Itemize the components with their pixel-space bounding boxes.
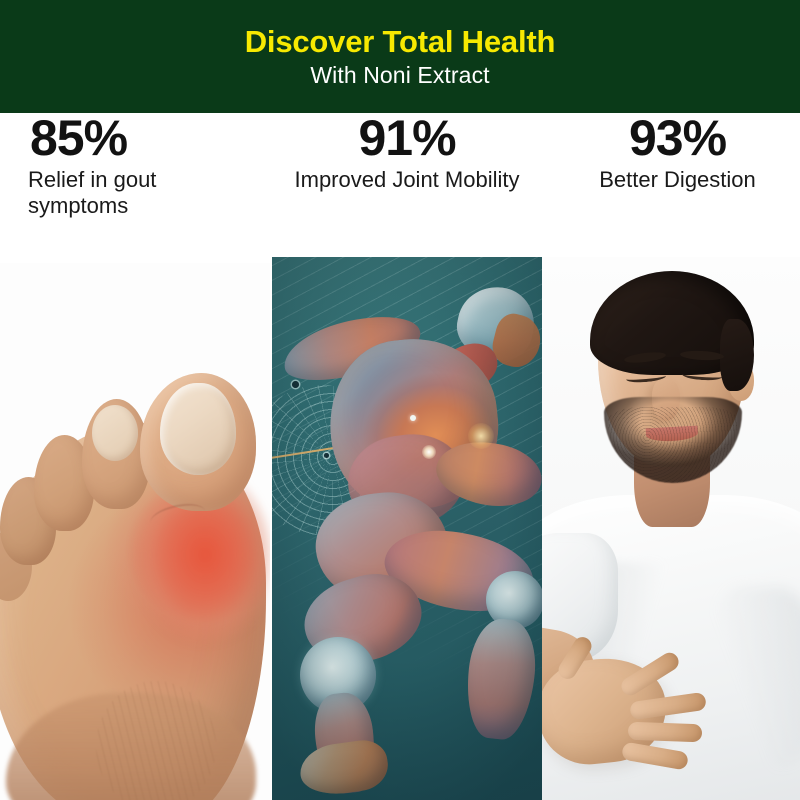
- runner-figure: [272, 257, 542, 800]
- gout-foot-photo: [0, 263, 272, 800]
- man-beard-stubble-texture: [608, 407, 738, 483]
- rear-foot-bones: [297, 737, 391, 799]
- smiling-man-photo: [542, 257, 800, 800]
- anatomy-runner-illustration: [272, 257, 542, 800]
- man-finger: [628, 722, 703, 743]
- man-hair-side: [720, 319, 754, 391]
- health-promo-poster: Discover Total Health With Noni Extract …: [0, 0, 800, 800]
- image-panels: [0, 0, 800, 800]
- shirt-fold: [710, 587, 800, 767]
- highlight-glow: [468, 423, 494, 449]
- second-toenail: [92, 405, 138, 461]
- big-toenail: [160, 383, 236, 475]
- highlight-glow: [422, 445, 436, 459]
- foot-skin-texture: [96, 681, 216, 800]
- highlight-node-dot: [410, 415, 416, 421]
- front-calf: [462, 616, 540, 742]
- foot-scene: [0, 263, 272, 800]
